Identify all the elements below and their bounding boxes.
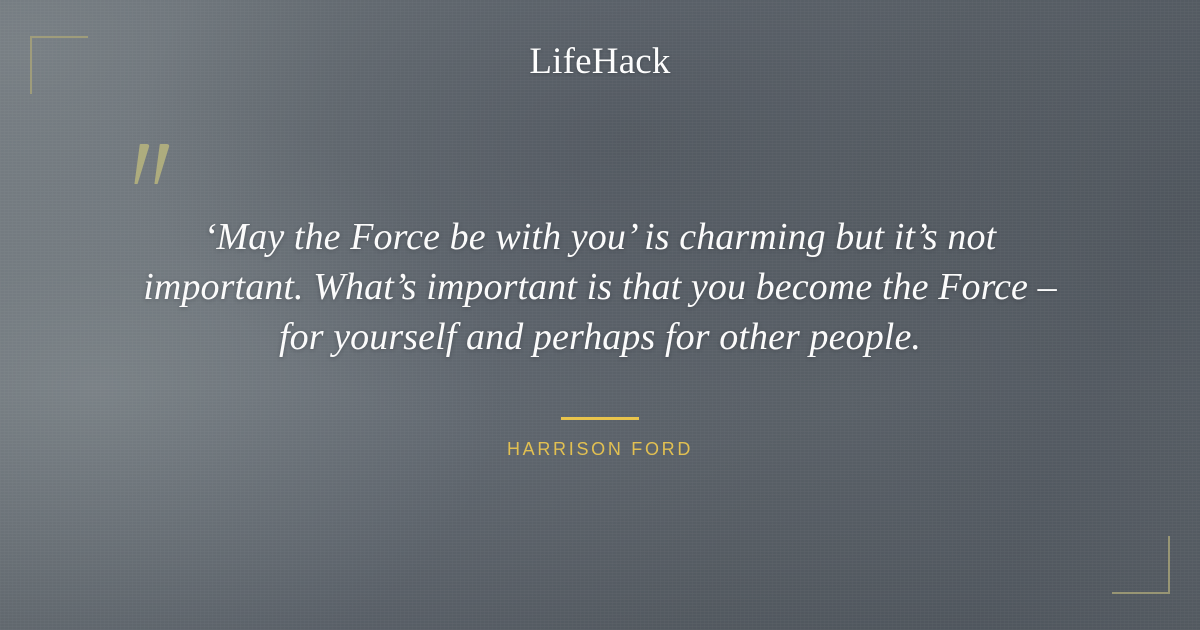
quote-mark-stroke-right — [150, 144, 170, 184]
quote-line: ‘May the Force be with you’ is charming … — [60, 212, 1140, 262]
brand-logo: LifeHack — [0, 41, 1200, 83]
quote-line: important. What’s important is that you … — [60, 262, 1140, 312]
corner-bracket-bottom-right-icon — [1112, 536, 1170, 594]
attribution-divider — [0, 410, 1200, 428]
quote-line: for yourself and perhaps for other peopl… — [60, 312, 1140, 362]
quote-author: HARRISON FORD — [0, 439, 1200, 460]
double-quote-mark-icon — [126, 118, 196, 198]
quote-mark-stroke-left — [130, 144, 150, 184]
divider-rule — [561, 417, 639, 420]
quote-card: LifeHack ‘May the Force be with you’ is … — [0, 0, 1200, 630]
quote-text: ‘May the Force be with you’ is charming … — [60, 212, 1140, 362]
